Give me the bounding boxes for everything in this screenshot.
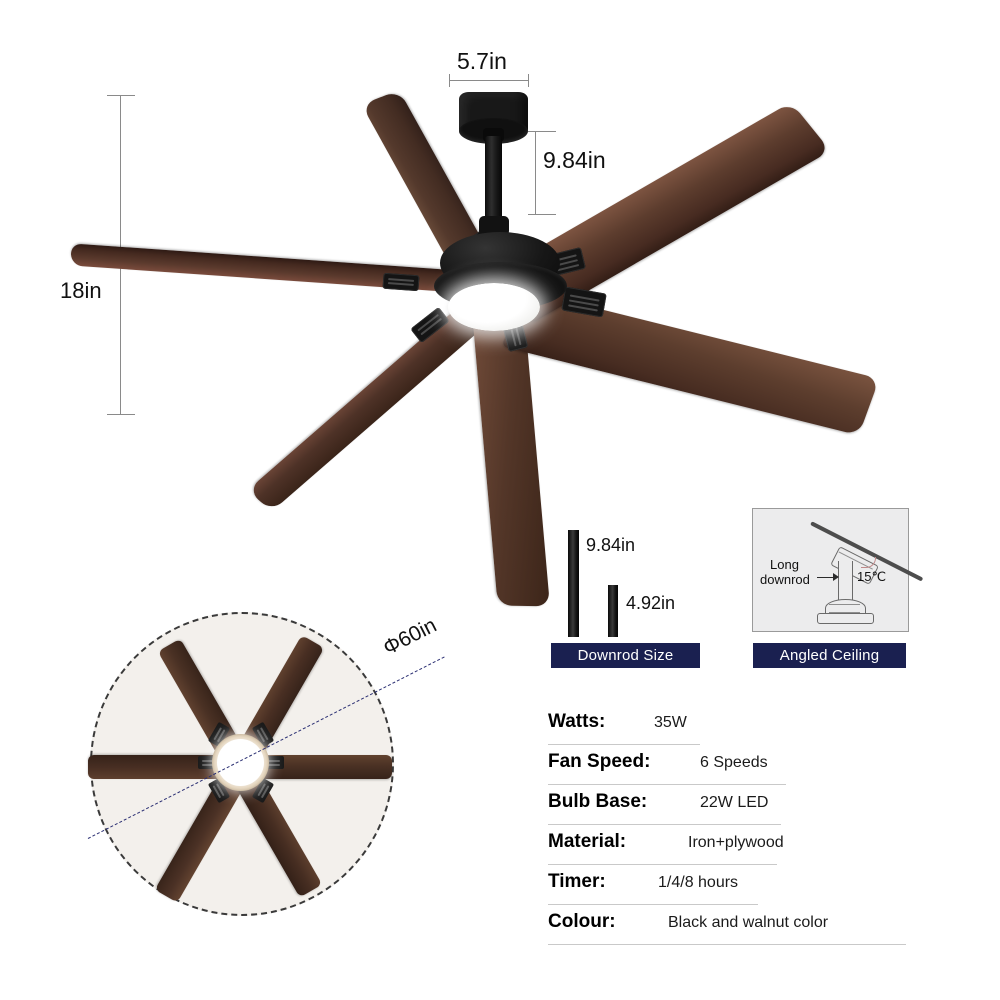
illustration-canopy-base xyxy=(817,613,874,624)
angled-ceiling-panel: Long downrod 15℃ Angled Ceiling xyxy=(752,508,912,673)
angled-ceiling-banner: Angled Ceiling xyxy=(753,643,906,668)
diameter-label: Φ60in xyxy=(380,614,441,661)
spec-underline-material xyxy=(548,864,777,865)
spec-key-timer: Timer: xyxy=(548,871,606,893)
downrod-drop-tick-top xyxy=(528,131,556,132)
short-downrod-label: 4.92in xyxy=(626,593,675,614)
short-downrod-bar xyxy=(608,585,618,637)
downrod-drop-label: 9.84in xyxy=(543,147,606,174)
overall-height-label: 18in xyxy=(60,278,102,304)
downrod-drop-tick-bottom xyxy=(528,214,556,215)
spec-value-colour: Black and walnut color xyxy=(668,914,828,932)
long-downrod-label: 9.84in xyxy=(586,535,635,556)
led-light-disc xyxy=(448,283,540,331)
spec-underline-timer xyxy=(548,904,758,905)
blade-bracket-2 xyxy=(382,273,419,291)
spec-value-watts: 35W xyxy=(654,714,687,732)
hero-product-image: 18in 5.7in 9.84in xyxy=(0,0,1000,470)
spec-row-watts: Watts: 35W xyxy=(548,707,948,747)
fan-blade-3 xyxy=(248,293,498,511)
long-downrod-callout-line1: Long xyxy=(770,557,799,572)
infographic-root: 18in 5.7in 9.84in xyxy=(0,0,1000,1000)
overall-height-tick-top xyxy=(107,95,135,96)
canopy-width-tick-right xyxy=(528,74,529,87)
canopy-width-label: 5.7in xyxy=(457,48,507,75)
downrod xyxy=(485,136,502,222)
overall-height-tick-bottom xyxy=(107,414,135,415)
fan-blade-5 xyxy=(502,290,880,436)
long-downrod-callout-line2: downrod xyxy=(760,572,810,587)
callout-arrow-head xyxy=(833,573,839,581)
spec-row-material: Material: Iron+plywood xyxy=(548,827,948,867)
spec-value-fan-speed: 6 Speeds xyxy=(700,754,768,772)
fan-blade-4 xyxy=(473,322,550,607)
illustration-canopy-rings xyxy=(829,604,860,613)
spec-underline-watts xyxy=(548,744,700,745)
spec-row-bulb-base: Bulb Base: 22W LED xyxy=(548,787,948,827)
spec-key-watts: Watts: xyxy=(548,711,605,733)
downrod-size-panel: 9.84in 4.92in Downrod Size xyxy=(548,505,718,675)
angled-ceiling-illustration: Long downrod 15℃ xyxy=(752,508,909,632)
long-downrod-bar xyxy=(568,530,579,637)
spec-value-bulb-base: 22W LED xyxy=(700,794,768,812)
fan-blade-2 xyxy=(71,243,481,294)
downrod-drop-dimension-line xyxy=(535,131,536,215)
spec-value-material: Iron+plywood xyxy=(688,834,784,852)
spec-key-bulb-base: Bulb Base: xyxy=(548,791,647,813)
specifications-table: Watts: 35W Fan Speed: 6 Speeds Bulb Base… xyxy=(548,707,948,947)
spec-row-timer: Timer: 1/4/8 hours xyxy=(548,867,948,907)
spec-underline-bulb-base xyxy=(548,824,781,825)
bottom-led-light xyxy=(217,739,264,786)
illustration-downrod xyxy=(838,561,853,603)
diameter-diagram: Φ60in xyxy=(80,600,500,950)
spec-key-material: Material: xyxy=(548,831,626,853)
spec-row-colour: Colour: Black and walnut color xyxy=(548,907,948,947)
ceiling-angle-label: 15℃ xyxy=(857,569,886,585)
spec-value-timer: 1/4/8 hours xyxy=(658,874,738,892)
spec-row-fan-speed: Fan Speed: 6 Speeds xyxy=(548,747,948,787)
spec-key-fan-speed: Fan Speed: xyxy=(548,751,650,773)
canopy-width-tick-left xyxy=(449,74,450,87)
canopy-width-dimension-line xyxy=(449,80,529,81)
spec-underline-colour xyxy=(548,944,906,945)
spec-key-colour: Colour: xyxy=(548,911,616,933)
downrod-size-banner: Downrod Size xyxy=(551,643,700,668)
spec-underline-fan-speed xyxy=(548,784,786,785)
